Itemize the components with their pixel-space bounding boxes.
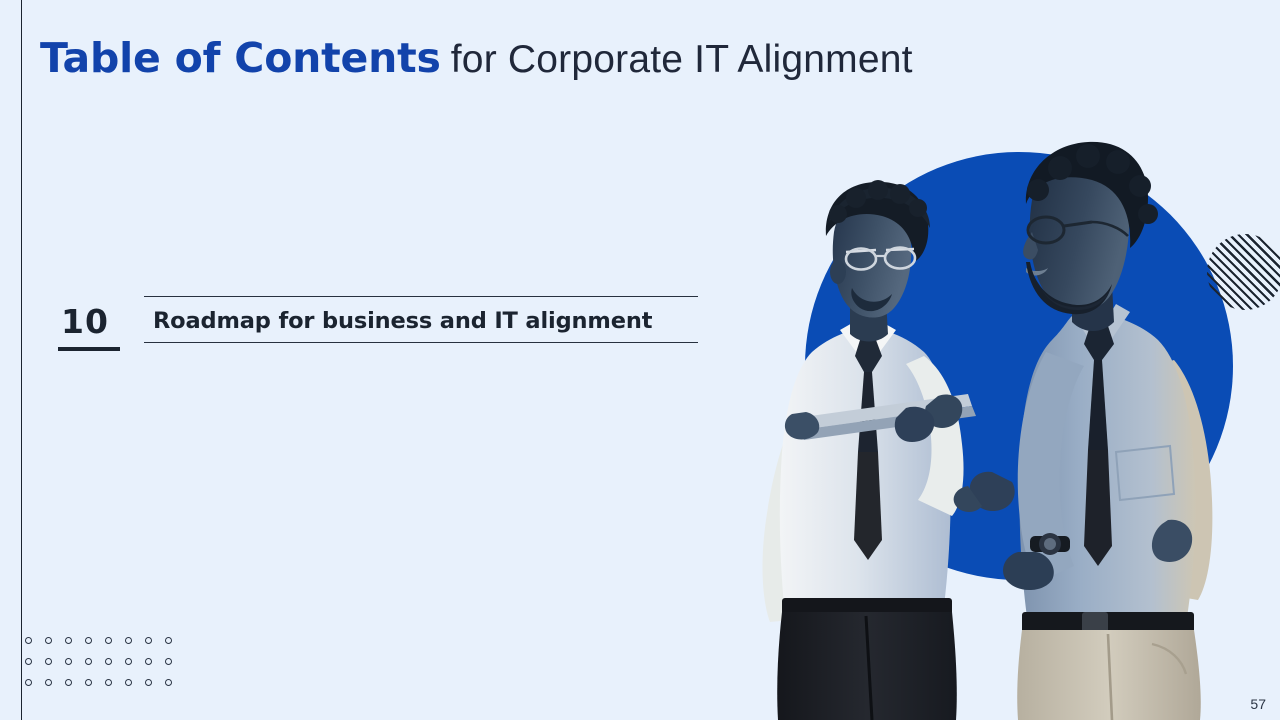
toc-number-wrap: 10 (58, 296, 142, 341)
dot (125, 658, 132, 665)
dot (65, 679, 72, 686)
dot (65, 637, 72, 644)
dot (45, 658, 52, 665)
toc-label-wrap: Roadmap for business and IT alignment (144, 296, 698, 343)
dot (105, 658, 112, 665)
slide-canvas: Table of Contentsfor Corporate IT Alignm… (0, 0, 1280, 720)
dot-grid-decoration (25, 637, 185, 700)
vertical-rule (21, 0, 22, 720)
dot (105, 637, 112, 644)
dot (85, 658, 92, 665)
dot (165, 679, 172, 686)
dot (25, 637, 32, 644)
dot (45, 637, 52, 644)
dot (25, 658, 32, 665)
dot (125, 679, 132, 686)
toc-label: Roadmap for business and IT alignment (144, 308, 652, 334)
dot (145, 658, 152, 665)
dot (25, 679, 32, 686)
dot (145, 637, 152, 644)
dot (165, 658, 172, 665)
dot (145, 679, 152, 686)
dot (85, 637, 92, 644)
dot (85, 679, 92, 686)
dot (125, 637, 132, 644)
table-of-contents-list: 10 Roadmap for business and IT alignment (58, 296, 698, 358)
page-title-strong: Table of Contents (40, 34, 441, 82)
dot (165, 637, 172, 644)
dot (65, 658, 72, 665)
dot (105, 679, 112, 686)
artwork-area (700, 0, 1280, 720)
dot (45, 679, 52, 686)
business-people-photo (700, 0, 1280, 720)
toc-number: 10 (58, 302, 142, 341)
toc-number-underline (58, 347, 120, 351)
page-number: 57 (1250, 696, 1266, 712)
list-item[interactable]: 10 Roadmap for business and IT alignment (58, 296, 698, 358)
